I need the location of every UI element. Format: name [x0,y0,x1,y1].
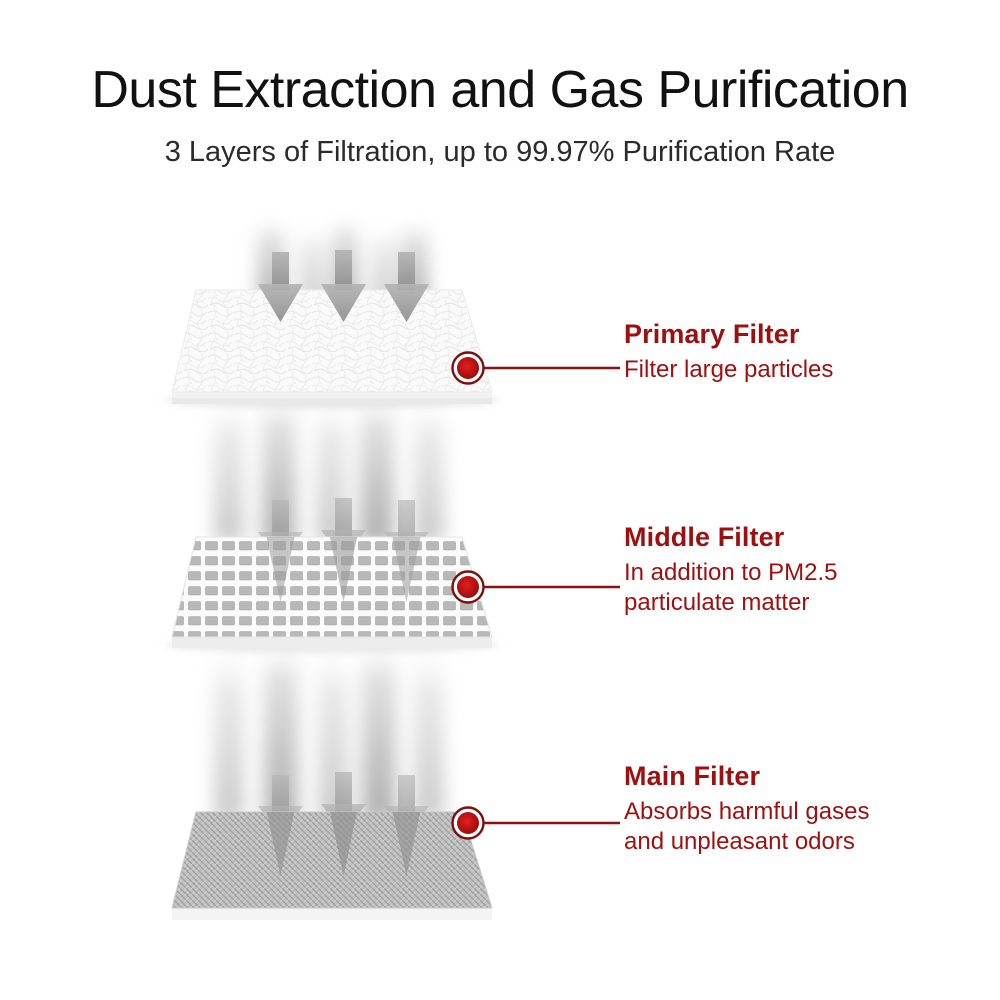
callout-middle-filter: Middle Filter In addition to PM2.5 parti… [624,523,837,617]
airflow-streams-lower-mid [214,637,444,821]
middle-filter-marker[interactable] [453,572,484,603]
callout-title-middle: Middle Filter [624,523,837,551]
callout-title-primary: Primary Filter [624,320,833,348]
layer-main-filter [172,812,492,920]
airflow-arrows-middle-shafts [258,498,429,560]
layer-middle-filter [164,537,500,653]
primary-filter-marker[interactable] [453,353,484,384]
airflow-arrows-middle-tips [265,528,422,602]
airflow-arrows-main-tips [265,802,422,876]
header: Dust Extraction and Gas Purification 3 L… [0,0,1000,170]
down-arrow-icon [321,250,366,322]
callout-primary-filter: Primary Filter Filter large particles [624,320,833,385]
callout-desc-primary-line-1: Filter large particles [624,355,833,384]
airflow-arrows-main-shafts [258,772,429,834]
callout-connector-primary [453,353,621,384]
callout-desc-primary: Filter large particles [624,355,833,384]
callout-connector-main [453,808,621,839]
page-subtitle: 3 Layers of Filtration, up to 99.97% Pur… [0,136,1000,169]
layer-primary-filter [164,290,500,408]
callout-desc-main-line-1: Absorbs harmful gases [624,797,869,826]
callout-desc-main-line-2: and unpleasant odors [624,827,869,856]
down-arrow-icon [258,252,303,322]
down-arrow-icon [384,252,429,322]
main-filter-marker[interactable] [453,808,484,839]
page-title: Dust Extraction and Gas Purification [0,62,1000,118]
airflow-arrows-primary [258,250,429,322]
callout-desc-main: Absorbs harmful gases and unpleasant odo… [624,797,869,856]
callout-main-filter: Main Filter Absorbs harmful gases and un… [624,762,869,856]
airflow-streams-upper-mid [214,392,444,544]
airflow-streams-top [258,216,428,304]
callout-connector-middle [453,572,621,603]
callout-desc-middle-line-2: particulate matter [624,588,837,617]
callout-desc-middle: In addition to PM2.5 particulate matter [624,558,837,617]
infographic-page: Dust Extraction and Gas Purification 3 L… [0,0,1000,1000]
callout-desc-middle-line-1: In addition to PM2.5 [624,558,837,587]
callout-title-main: Main Filter [624,762,869,790]
